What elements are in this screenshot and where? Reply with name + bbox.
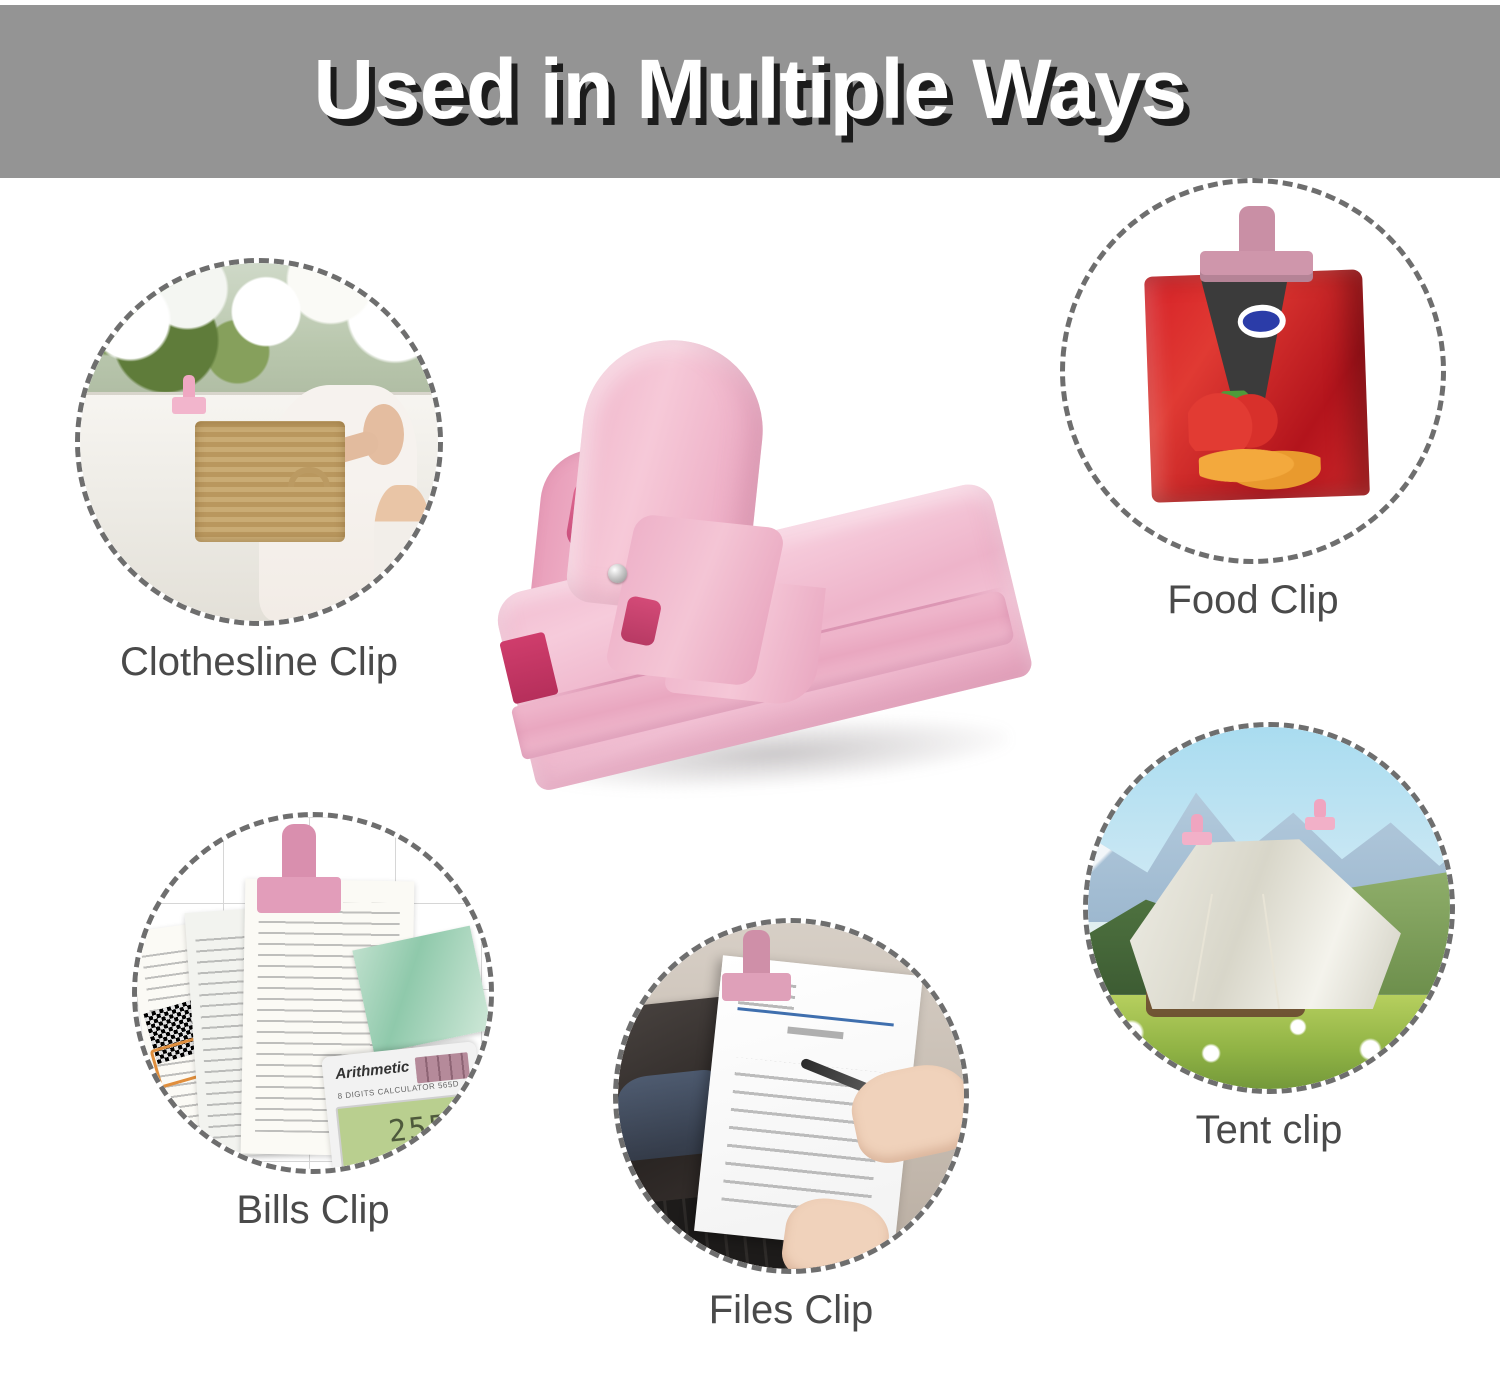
bills-scene: Arithmetic 8 DIGITS CALCULATOR 565D 2556 — [137, 817, 489, 1169]
feature-files: Files Clip — [613, 918, 969, 1333]
calculator: Arithmetic 8 DIGITS CALCULATOR 565D 2556 — [321, 1042, 488, 1169]
header-banner: Used in Multiple Ways — [0, 5, 1500, 178]
tent-clip-icon-2 — [1305, 799, 1335, 833]
clip-jaw — [1305, 817, 1335, 830]
snack-bag — [1144, 269, 1370, 502]
clip-jaw — [172, 397, 206, 414]
clip-stem — [1191, 814, 1203, 834]
feature-clothesline: Clothesline Clip — [75, 258, 443, 685]
clip-jaw — [1200, 251, 1313, 282]
feature-tent: Tent clip — [1083, 722, 1455, 1153]
feature-label-tent: Tent clip — [1083, 1108, 1455, 1153]
calculator-screen: 2556 — [336, 1093, 482, 1169]
clip-stem — [183, 375, 195, 399]
clip-stem — [1239, 206, 1275, 257]
calculator-display-value: 2556 — [387, 1106, 478, 1150]
feature-label-clothesline: Clothesline Clip — [75, 640, 443, 685]
feature-label-bills: Bills Clip — [132, 1188, 494, 1233]
bills-clip-icon — [257, 824, 341, 930]
calculator-brand: Arithmetic — [335, 1058, 411, 1083]
bills-photo-bubble: Arithmetic 8 DIGITS CALCULATOR 565D 2556 — [132, 812, 494, 1174]
clip-jaw — [722, 973, 791, 1001]
clothesline-scene — [80, 263, 438, 621]
sky-and-trees — [80, 263, 438, 406]
laundry-basket — [195, 421, 345, 543]
chips-graphic — [1198, 438, 1322, 492]
files-scene — [618, 923, 964, 1269]
clip-stem — [743, 930, 771, 978]
clip-stem — [282, 824, 316, 883]
clip-metal-pin — [608, 564, 627, 583]
clip-stem — [1314, 799, 1326, 819]
food-clip-icon — [1200, 206, 1313, 304]
tent-scene — [1088, 727, 1450, 1089]
feature-bills: Arithmetic 8 DIGITS CALCULATOR 565D 2556… — [132, 812, 494, 1233]
files-photo-bubble — [613, 918, 969, 1274]
tent-clip-icon-1 — [1182, 814, 1212, 848]
page-title: Used in Multiple Ways — [313, 47, 1186, 131]
food-scene — [1065, 183, 1441, 559]
clip-jaw — [257, 877, 341, 913]
files-clip-icon — [722, 930, 791, 1013]
feature-label-files: Files Clip — [613, 1288, 969, 1333]
document-title-line — [787, 1026, 844, 1039]
clip-jaw — [1182, 832, 1212, 845]
calculator-solar-panel — [415, 1052, 470, 1084]
tent-photo-bubble — [1083, 722, 1455, 1094]
clothesline-photo-bubble — [75, 258, 443, 626]
basket-handle — [288, 467, 330, 488]
child-figure — [374, 485, 431, 607]
hero-product-clip — [500, 330, 1120, 850]
clothesline-clip-icon-1 — [172, 375, 206, 417]
